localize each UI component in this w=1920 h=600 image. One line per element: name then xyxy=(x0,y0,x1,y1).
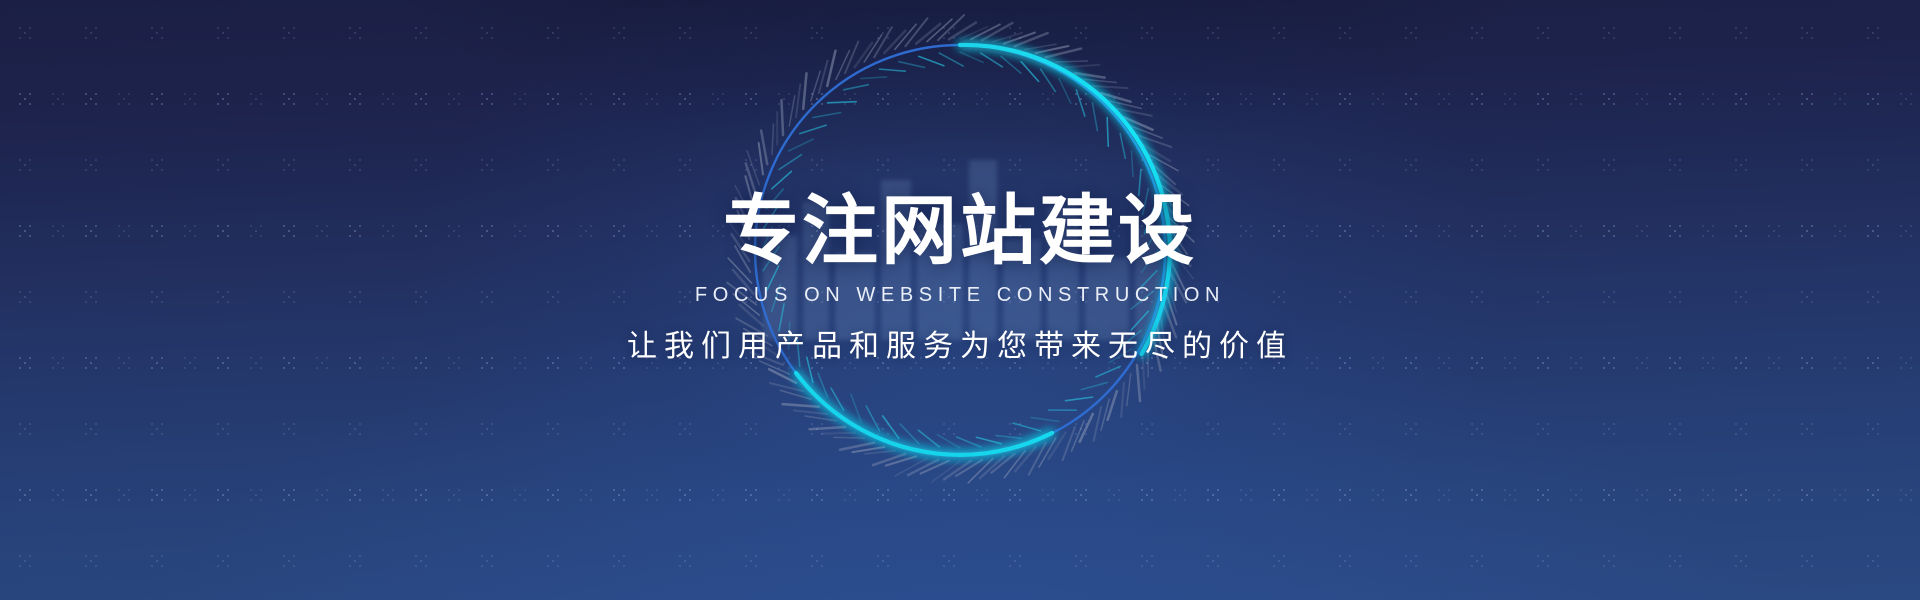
ring-tick-inner xyxy=(1121,331,1141,347)
ring-tick-outer xyxy=(1170,228,1187,254)
ring-tick-outer xyxy=(993,33,1022,42)
ring-tick-inner xyxy=(763,208,777,230)
ring-tick-inner xyxy=(1109,349,1131,363)
ring-tick-inner xyxy=(883,416,899,438)
ring-tick-outer xyxy=(980,456,1004,478)
ring-tick-outer xyxy=(834,437,865,438)
dot-grid-pattern-band xyxy=(0,0,1920,600)
ring-tick-inner xyxy=(797,340,799,366)
ring-tick-outer xyxy=(1164,195,1184,218)
ring-tick-outer xyxy=(1004,33,1035,44)
ring-tick-outer xyxy=(803,73,806,108)
ring-tick-inner xyxy=(996,436,1021,439)
ring-tick-outer xyxy=(1137,365,1140,401)
ring-tick-outer xyxy=(1171,261,1185,290)
ring-tick-inner xyxy=(844,85,869,90)
ring-tick-outer xyxy=(982,23,1012,40)
ring-tick-outer xyxy=(1066,65,1100,68)
banner-subtitle: FOCUS ON WEBSITE CONSTRUCTION xyxy=(695,285,1225,305)
ring-tick-inner xyxy=(763,247,779,271)
ring-tick-outer xyxy=(845,41,858,73)
dot-grid-pattern xyxy=(0,0,1920,600)
ring-tick-inner xyxy=(818,373,827,397)
ring-tick-outer xyxy=(1056,61,1088,62)
ring-tick-inner xyxy=(866,406,879,431)
ring-tick-outer xyxy=(1108,391,1117,420)
ring-tick-inner xyxy=(879,69,905,71)
ring-tick-outer xyxy=(1063,427,1075,460)
ring-tick-outer xyxy=(746,163,756,195)
ring-tick-inner xyxy=(1021,62,1038,82)
ring-tick-outer xyxy=(874,27,892,57)
ring-tick-outer xyxy=(864,35,881,62)
ring-glow-arc-top xyxy=(960,45,1170,354)
hero-banner: 专注网站建设 FOCUS ON WEBSITE CONSTRUCTION 让我们… xyxy=(0,0,1920,600)
ring-tick-inner xyxy=(828,102,857,103)
ring-tick-inner xyxy=(1081,382,1107,389)
ring-tick-outer xyxy=(1171,250,1193,279)
ring-tick-outer xyxy=(1157,326,1163,358)
ring-tick-inner xyxy=(831,388,844,410)
ring-tick-outer xyxy=(1117,109,1152,116)
ring-tick-outer xyxy=(916,24,940,44)
skyline-silhouette xyxy=(745,140,1175,340)
ring-tick-outer xyxy=(1168,283,1176,312)
ring-outer-ticks xyxy=(727,15,1194,483)
banner-tagline: 让我们用产品和服务为您带来无尽的价值 xyxy=(627,332,1293,362)
ring-tick-inner xyxy=(789,139,814,151)
ring-tick-inner xyxy=(861,77,887,79)
ring-tick-outer xyxy=(1157,174,1182,194)
ring-tick-inner xyxy=(1143,189,1149,215)
ring-tick-inner xyxy=(1096,366,1120,376)
decorative-ring xyxy=(700,0,1220,510)
ring-tick-outer xyxy=(927,19,952,41)
ring-tick-outer xyxy=(855,43,873,67)
ring-tick-inner xyxy=(851,395,861,422)
ring-tick-outer xyxy=(772,124,773,154)
ring-tick-outer xyxy=(895,24,916,49)
ring-tick-outer xyxy=(1084,79,1116,82)
ring-svg xyxy=(700,0,1220,510)
ring-tick-inner xyxy=(1001,56,1021,73)
ring-tick-outer xyxy=(735,246,750,272)
ring-tick-outer xyxy=(1101,399,1109,430)
ring-tick-outer xyxy=(1029,443,1046,475)
ring-tick-outer xyxy=(1171,239,1191,266)
ring-tick-outer xyxy=(921,461,949,474)
ring-tick-inner xyxy=(779,304,784,331)
ring-tick-inner xyxy=(807,357,813,382)
ring-tick-outer xyxy=(827,51,835,86)
ring-tick-outer xyxy=(769,369,796,383)
ring-tick-outer xyxy=(1072,421,1085,451)
ring-tick-outer xyxy=(1148,154,1178,170)
ring-base-circle xyxy=(755,45,1165,455)
ring-tick-outer xyxy=(1101,93,1130,102)
ring-tick-outer xyxy=(1153,164,1175,184)
ring-tick-inner xyxy=(1131,291,1154,309)
ring-tick-inner xyxy=(1131,311,1148,330)
ring-tick-outer xyxy=(770,383,803,391)
ring-tick-outer xyxy=(1166,206,1189,230)
ring-tick-outer xyxy=(1004,451,1025,478)
ring-tick-outer xyxy=(1153,336,1161,371)
ring-tick-outer xyxy=(1036,46,1069,53)
ring-tick-outer xyxy=(745,176,753,206)
ring-tick-outer xyxy=(1121,383,1124,417)
ring-tick-outer xyxy=(1075,73,1105,78)
ring-tick-inner xyxy=(1059,79,1071,104)
banner-title: 专注网站建设 xyxy=(723,193,1197,269)
ring-tick-outer xyxy=(1093,86,1128,88)
ring-tick-outer xyxy=(740,305,763,326)
ring-tick-outer xyxy=(1015,33,1048,46)
ring-tick-inner xyxy=(976,437,1001,443)
ring-tick-outer xyxy=(1170,272,1186,302)
ring-tick-outer xyxy=(747,151,759,185)
ring-tick-outer xyxy=(1131,126,1162,138)
ring-tick-outer xyxy=(938,15,964,40)
ring-tick-outer xyxy=(789,96,794,126)
ring-tick-outer xyxy=(811,71,820,101)
ring-tick-outer xyxy=(836,51,849,80)
ring-tick-outer xyxy=(1109,101,1141,109)
ring-tick-outer xyxy=(780,390,810,399)
ring-tick-outer xyxy=(971,24,1000,39)
ring-tick-outer xyxy=(732,234,750,261)
ring-tick-outer xyxy=(873,454,905,465)
banner-content: 专注网站建设 FOCUS ON WEBSITE CONSTRUCTION 让我们… xyxy=(0,0,1920,600)
ring-tick-outer xyxy=(752,338,777,355)
ring-tick-inner xyxy=(981,53,1003,67)
ring-tick-outer xyxy=(1049,433,1066,459)
ring-tick-inner xyxy=(1076,90,1084,116)
ring-tick-inner xyxy=(1120,134,1125,159)
ring-inner-ticks xyxy=(762,52,1158,448)
ring-tick-outer xyxy=(1094,407,1102,441)
ring-tick-inner xyxy=(1139,169,1141,195)
ring-tick-inner xyxy=(960,52,983,62)
ring-tick-inner xyxy=(939,53,963,66)
ring-tick-outer xyxy=(1039,438,1056,467)
ring-tick-inner xyxy=(1107,118,1108,147)
ring-tick-inner xyxy=(957,437,981,447)
ring-tick-outer xyxy=(805,416,836,421)
ring-tick-outer xyxy=(905,18,927,46)
ring-tick-inner xyxy=(1031,418,1059,422)
ring-tick-outer xyxy=(736,318,767,335)
ring-tick-outer xyxy=(1161,315,1165,345)
ring-tick-outer xyxy=(931,461,960,482)
ring-tick-outer xyxy=(810,427,845,429)
ring-tick-outer xyxy=(1080,414,1093,442)
ring-tick-inner xyxy=(789,322,790,349)
ring-tick-outer xyxy=(1015,447,1035,471)
ring-tick-inner xyxy=(919,56,944,65)
ring-tick-outer xyxy=(886,456,916,465)
ring-tick-outer xyxy=(884,31,905,53)
ring-tick-outer xyxy=(751,352,783,365)
ring-tick-inner xyxy=(899,62,925,68)
ring-tick-outer xyxy=(729,222,749,250)
ring-tick-inner xyxy=(1013,423,1041,431)
ring-tick-outer xyxy=(991,454,1014,473)
ring-tick-inner xyxy=(1041,69,1056,91)
ring-tick-outer xyxy=(782,100,784,135)
ring-tick-outer xyxy=(783,404,819,407)
ring-tick-outer xyxy=(895,458,927,476)
ring-tick-inner xyxy=(1131,151,1133,177)
ring-tick-inner xyxy=(800,125,826,133)
ring-tick-inner xyxy=(762,227,772,250)
ring-tick-inner xyxy=(1142,250,1158,272)
ring-tick-outer xyxy=(1143,145,1170,161)
ring-tick-outer xyxy=(733,270,754,294)
ring-tick-outer xyxy=(735,186,752,217)
ring-tick-outer xyxy=(908,460,938,475)
ring-tick-inner xyxy=(900,424,919,444)
ring-tick-outer xyxy=(852,447,884,452)
ring-tick-outer xyxy=(1168,217,1193,242)
ring-tick-inner xyxy=(766,189,783,209)
ring-tick-inner xyxy=(1066,397,1093,401)
ring-tick-outer xyxy=(760,361,790,374)
ring-tick-outer xyxy=(759,143,763,174)
ring-tick-outer xyxy=(1025,44,1056,49)
ring-tick-inner xyxy=(1092,103,1097,131)
ring-tick-outer xyxy=(733,294,759,315)
ring-tick-outer xyxy=(865,451,895,454)
ring-tick-inner xyxy=(1144,209,1153,234)
ring-tick-outer xyxy=(736,198,750,228)
ring-tick-inner xyxy=(1137,271,1157,291)
ring-tick-inner xyxy=(766,266,778,291)
ring-tick-outer xyxy=(1046,49,1081,58)
ring-tick-outer xyxy=(796,85,800,118)
ring-tick-inner xyxy=(918,430,939,447)
ring-tick-outer xyxy=(949,23,976,40)
ring-tick-outer xyxy=(728,258,751,283)
ring-tick-outer xyxy=(968,458,993,482)
ring-tick-outer xyxy=(1164,305,1176,338)
ring-tick-outer xyxy=(1137,135,1171,147)
ring-tick-inner xyxy=(813,113,841,118)
ring-tick-outer xyxy=(1143,356,1145,390)
ring-tick-outer xyxy=(1166,294,1176,325)
ring-tick-inner xyxy=(772,285,781,311)
ring-tick-outer xyxy=(819,61,828,93)
ring-tick-outer xyxy=(1161,185,1189,206)
ring-tick-outer xyxy=(944,461,971,480)
ring-tick-outer xyxy=(744,329,772,346)
ring-tick-outer xyxy=(737,211,749,239)
background-glow xyxy=(0,0,1920,600)
ring-tick-inner xyxy=(779,155,801,170)
ring-tick-outer xyxy=(794,410,827,414)
ring-tick-outer xyxy=(1124,117,1153,130)
ring-tick-outer xyxy=(822,433,855,434)
ring-tick-outer xyxy=(1127,374,1131,405)
ring-tick-outer xyxy=(761,131,767,165)
ring-tick-inner xyxy=(772,171,792,188)
ring-tick-outer xyxy=(960,27,987,39)
ring-glow-arc-bottom xyxy=(796,373,1052,455)
ring-tick-inner xyxy=(937,435,960,448)
ring-tick-outer xyxy=(956,460,982,476)
ring-tick-outer xyxy=(840,443,874,450)
ring-tick-outer xyxy=(727,283,756,305)
ring-tick-inner xyxy=(1144,229,1157,253)
